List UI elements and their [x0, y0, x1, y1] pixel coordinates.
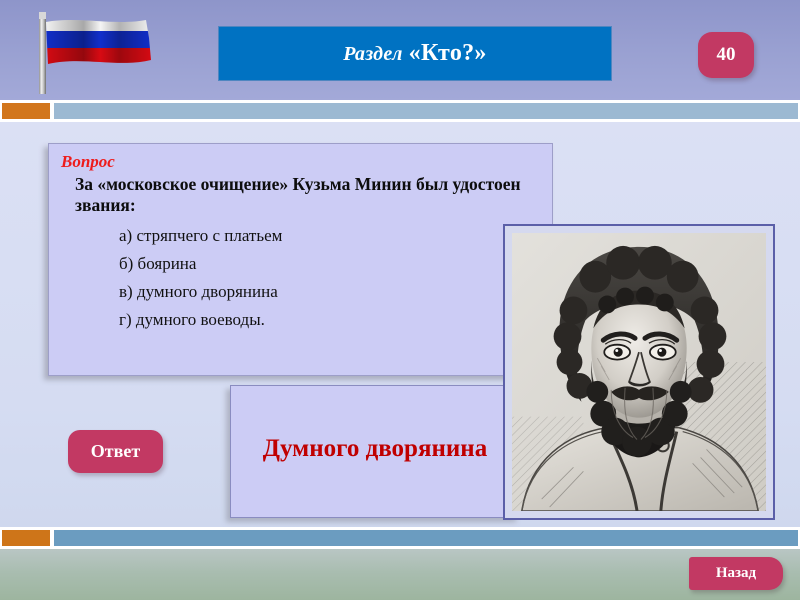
answer-button[interactable]: Ответ [68, 430, 163, 473]
back-button[interactable]: Назад [689, 557, 783, 590]
divider-accent-swatch [2, 103, 50, 119]
section-topic: «Кто?» [409, 40, 487, 66]
divider-top [0, 100, 800, 122]
portrait-frame [503, 224, 775, 520]
divider-bottom [0, 527, 800, 549]
section-header-banner: Раздел«Кто?» [218, 26, 612, 81]
kuzma-minin-portrait [512, 233, 766, 511]
bottom-band [0, 549, 800, 600]
page-title: Раздел«Кто?» [343, 40, 486, 67]
option-v[interactable]: в) думного дворянина [119, 278, 542, 306]
answer-panel: Думного дворянина [230, 385, 520, 518]
option-g[interactable]: г) думного воеводы. [119, 306, 542, 334]
question-panel: Вопрос За «московское очищение» Кузьма М… [48, 143, 553, 376]
question-label: Вопрос [61, 152, 542, 172]
score-badge: 40 [698, 32, 754, 78]
russian-flag-icon [18, 8, 163, 96]
question-options-list: а) стряпчего с платьем б) боярина в) дум… [61, 222, 542, 334]
option-a[interactable]: а) стряпчего с платьем [119, 222, 542, 250]
option-b[interactable]: б) боярина [119, 250, 542, 278]
answer-text: Думного дворянина [237, 433, 513, 470]
divider-bar [54, 103, 798, 119]
divider-accent-swatch-bottom [2, 530, 50, 546]
divider-bar-bottom [54, 530, 798, 546]
section-prefix: Раздел [343, 43, 402, 65]
question-stem: За «московское очищение» Кузьма Минин бы… [75, 174, 542, 216]
